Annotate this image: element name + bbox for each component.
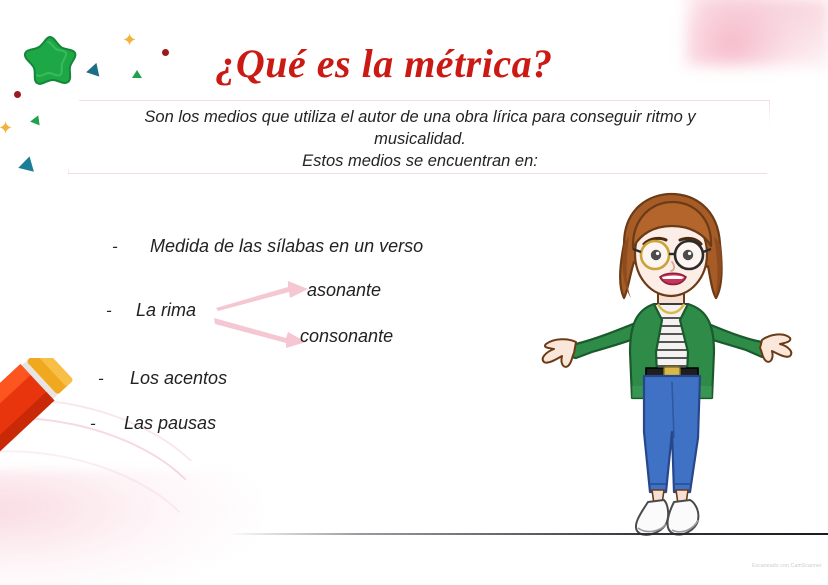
bottom-divider <box>228 533 828 535</box>
intro-line-3: Estos medios se encuentran en: <box>80 151 760 173</box>
teal-triangle-icon <box>16 156 34 175</box>
branch-label-asonante: asonante <box>307 280 381 301</box>
list-item-label: Los acentos <box>130 368 227 389</box>
slide-canvas: ✦ ✦ ¿Qué es la métrica? Son los medios q… <box>0 0 828 585</box>
teacher-avatar-illustration <box>532 192 804 545</box>
red-pencil-icon <box>0 358 124 523</box>
list-item-label: Las pausas <box>124 413 216 434</box>
intro-line-2: musicalidad. <box>80 129 760 151</box>
list-item: -Medida de las sílabas en un verso <box>112 236 423 257</box>
red-dot-icon <box>14 91 21 98</box>
page-title: ¿Qué es la métrica? <box>0 40 768 87</box>
branch-label-consonante: consonante <box>300 326 393 347</box>
arrow-to-asonante-icon <box>214 281 310 311</box>
list-item-label: La rima <box>136 300 196 321</box>
yellow-sparkle-icon: ✦ <box>0 120 13 138</box>
list-item-label: Medida de las sílabas en un verso <box>150 236 423 257</box>
bullet-dash: - <box>106 301 136 321</box>
green-triangle-icon <box>29 115 39 126</box>
intro-text: Son los medios que utiliza el autor de u… <box>80 107 760 173</box>
intro-line-1: Son los medios que utiliza el autor de u… <box>80 107 760 129</box>
watermark-text: Escaneado con CamScanner <box>752 563 822 569</box>
arrow-to-consonante-icon <box>212 316 308 348</box>
list-item: -La rima <box>106 300 196 321</box>
bullet-dash: - <box>112 237 150 257</box>
